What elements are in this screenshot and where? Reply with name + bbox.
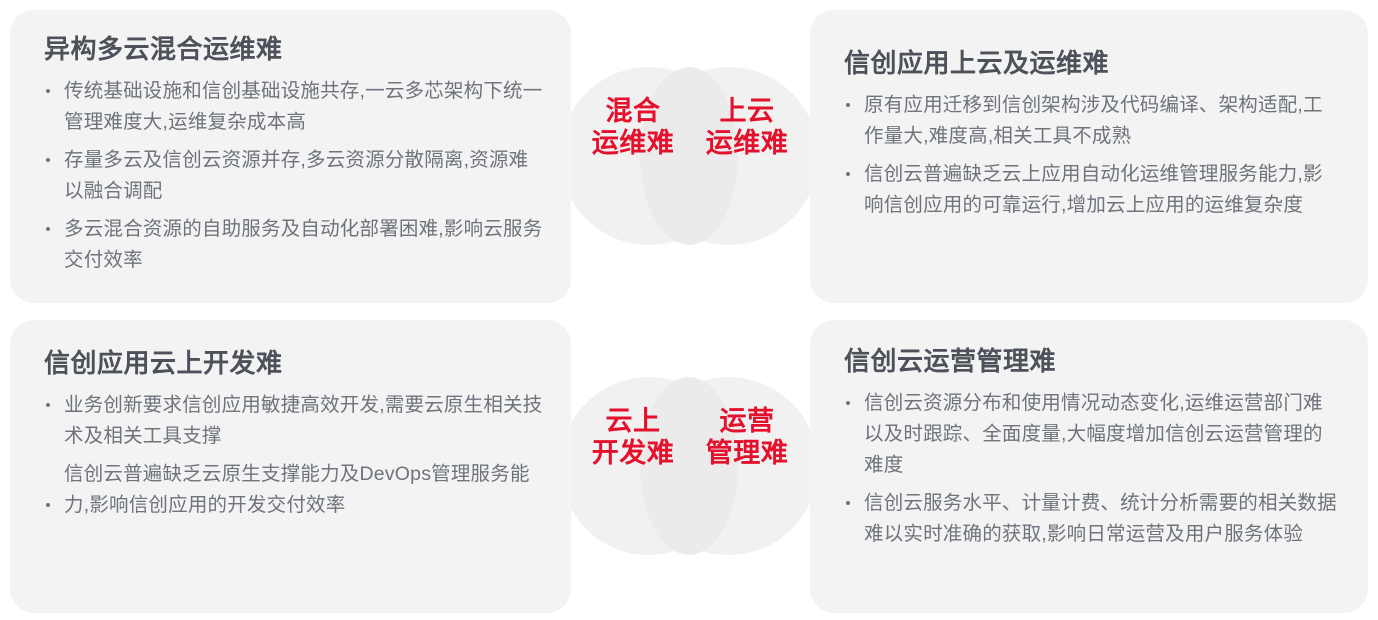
bullet-dot-icon — [46, 89, 50, 93]
list-item: 传统基础设施和信创基础设施共存,一云多芯架构下统一管理难度大,运维复杂成本高 — [44, 76, 545, 138]
venn-label-cloud-onboard-ops: 上云 运维难 — [686, 95, 808, 159]
list-item: 多云混合资源的自助服务及自动化部署困难,影响云服务交付效率 — [44, 214, 545, 276]
bullet-list: 信创云资源分布和使用情况动态变化,运维运营部门难以及时跟踪、全面度量,大幅度增加… — [844, 388, 1342, 550]
bullet-list: 原有应用迁移到信创架构涉及代码编译、架构适配,工作量大,难度高,相关工具不成熟 … — [844, 90, 1342, 221]
list-item-text: 信创云服务水平、计量计费、统计分析需要的相关数据难以实时准确的获取,影响日常运营… — [864, 488, 1342, 550]
bullet-dot-icon — [846, 103, 850, 107]
list-item-text: 信创云普遍缺乏云原生支撑能力及DevOps管理服务能力,影响信创应用的开发交付效… — [64, 459, 545, 521]
venn-diagram-bottom: 云上 开发难 运营 管理难 — [560, 377, 818, 557]
list-item-text: 原有应用迁移到信创架构涉及代码编译、架构适配,工作量大,难度高,相关工具不成熟 — [864, 90, 1342, 152]
list-item-text: 传统基础设施和信创基础设施共存,一云多芯架构下统一管理难度大,运维复杂成本高 — [64, 76, 545, 138]
list-item: 信创云资源分布和使用情况动态变化,运维运营部门难以及时跟踪、全面度量,大幅度增加… — [844, 388, 1342, 481]
challenges-overview-board: 混合 运维难 上云 运维难 云上 开发难 运营 管理难 异构多云混合运维难 传统… — [0, 0, 1378, 620]
list-item: 信创云普遍缺乏云原生支撑能力及DevOps管理服务能力,影响信创应用的开发交付效… — [44, 459, 545, 521]
bullet-dot-icon — [846, 501, 850, 505]
venn-label-cloud-dev: 云上 开发难 — [572, 405, 694, 469]
bullet-dot-icon — [46, 403, 50, 407]
card-app-cloud-onboarding-ops: 信创应用上云及运维难 原有应用迁移到信创架构涉及代码编译、架构适配,工作量大,难… — [810, 10, 1368, 303]
bullet-list: 业务创新要求信创应用敏捷高效开发,需要云原生相关技术及相关工具支撑 信创云普遍缺… — [44, 390, 545, 521]
venn-label-hybrid-ops: 混合 运维难 — [572, 95, 694, 159]
bullet-dot-icon — [46, 503, 50, 507]
bullet-dot-icon — [846, 401, 850, 405]
venn-label-ops-mgmt: 运营 管理难 — [686, 405, 808, 469]
card-app-cloud-development: 信创应用云上开发难 业务创新要求信创应用敏捷高效开发,需要云原生相关技术及相关工… — [10, 320, 571, 613]
list-item: 信创云服务水平、计量计费、统计分析需要的相关数据难以实时准确的获取,影响日常运营… — [844, 488, 1342, 550]
bullet-list: 传统基础设施和信创基础设施共存,一云多芯架构下统一管理难度大,运维复杂成本高 存… — [44, 76, 545, 276]
bullet-dot-icon — [846, 172, 850, 176]
card-title: 信创应用云上开发难 — [44, 346, 545, 380]
list-item-text: 业务创新要求信创应用敏捷高效开发,需要云原生相关技术及相关工具支撑 — [64, 390, 545, 452]
list-item-text: 存量多云及信创云资源并存,多云资源分散隔离,资源难以融合调配 — [64, 145, 545, 207]
venn-diagram-top: 混合 运维难 上云 运维难 — [560, 67, 818, 247]
card-title: 异构多云混合运维难 — [44, 32, 545, 66]
list-item: 原有应用迁移到信创架构涉及代码编译、架构适配,工作量大,难度高,相关工具不成熟 — [844, 90, 1342, 152]
list-item: 信创云普遍缺乏云上应用自动化运维管理服务能力,影响信创应用的可靠运行,增加云上应… — [844, 159, 1342, 221]
card-cloud-operations-management: 信创云运营管理难 信创云资源分布和使用情况动态变化,运维运营部门难以及时跟踪、全… — [810, 320, 1368, 613]
list-item-text: 信创云普遍缺乏云上应用自动化运维管理服务能力,影响信创应用的可靠运行,增加云上应… — [864, 159, 1342, 221]
list-item: 业务创新要求信创应用敏捷高效开发,需要云原生相关技术及相关工具支撑 — [44, 390, 545, 452]
card-hybrid-multicloud-ops: 异构多云混合运维难 传统基础设施和信创基础设施共存,一云多芯架构下统一管理难度大… — [10, 10, 571, 303]
bullet-dot-icon — [46, 158, 50, 162]
list-item-text: 信创云资源分布和使用情况动态变化,运维运营部门难以及时跟踪、全面度量,大幅度增加… — [864, 388, 1342, 481]
list-item: 存量多云及信创云资源并存,多云资源分散隔离,资源难以融合调配 — [44, 145, 545, 207]
list-item-text: 多云混合资源的自助服务及自动化部署困难,影响云服务交付效率 — [64, 214, 545, 276]
card-title: 信创应用上云及运维难 — [844, 46, 1342, 80]
bullet-dot-icon — [46, 227, 50, 231]
card-title: 信创云运营管理难 — [844, 344, 1342, 378]
